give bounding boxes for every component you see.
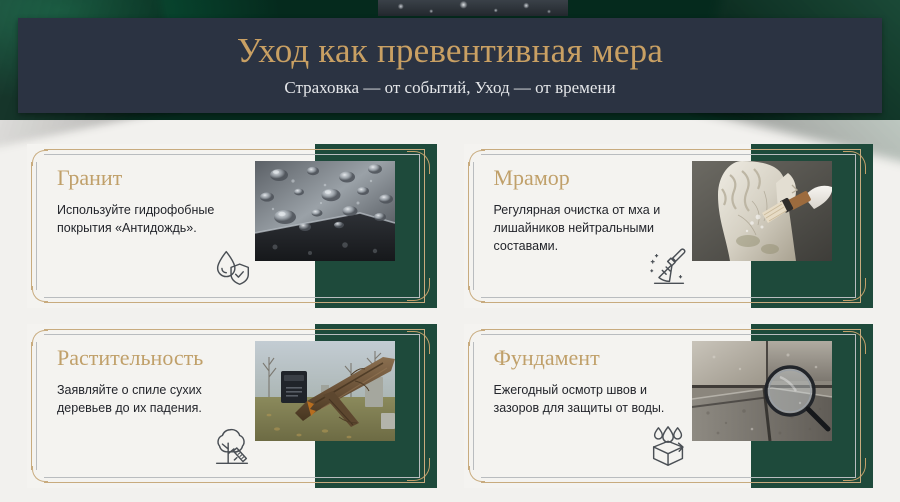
card-title: Фундамент: [494, 346, 689, 370]
page-title: Уход как превентивная мера: [237, 33, 663, 70]
card-mramor[interactable]: Мрамор Регулярная очистка от мха и лишай…: [464, 144, 874, 308]
header-banner: Уход как превентивная мера Страховка — о…: [18, 18, 882, 113]
card-title: Мрамор: [494, 166, 689, 190]
card-content: Мрамор Регулярная очистка от мха и лишай…: [494, 166, 689, 256]
marble-statue-being-brushed-photo: [692, 161, 832, 261]
card-description: Ежегодный осмотр швов и зазоров для защи…: [494, 381, 689, 417]
card-rastitelnost[interactable]: Растительность Заявляйте о спиле сухих д…: [27, 324, 437, 488]
cleaning-brush-icon: [646, 244, 692, 290]
card-content: Гранит Используйте гидрофобные покрытия …: [57, 166, 252, 237]
card-title: Гранит: [57, 166, 252, 190]
granite-texture-strip: [378, 0, 568, 16]
water-drop-shield-icon: [209, 244, 255, 290]
slide: Уход как превентивная мера Страховка — о…: [0, 0, 900, 502]
card-title: Растительность: [57, 346, 252, 370]
fallen-tree-in-cemetery-photo: [255, 341, 395, 441]
water-repellent-block-icon: [646, 424, 692, 470]
card-description: Используйте гидрофобные покрытия «Антидо…: [57, 201, 252, 237]
cards-grid: Гранит Используйте гидрофобные покрытия …: [0, 124, 900, 502]
card-content: Фундамент Ежегодный осмотр швов и зазоро…: [494, 346, 689, 417]
page-subtitle: Страховка — от событий, Уход — от времен…: [284, 78, 615, 98]
card-fundament[interactable]: Фундамент Ежегодный осмотр швов и зазоро…: [464, 324, 874, 488]
tree-with-saw-icon: [209, 424, 255, 470]
granite-slab-with-raindrops-photo: [255, 161, 395, 261]
card-content: Растительность Заявляйте о спиле сухих д…: [57, 346, 252, 417]
card-description: Заявляйте о спиле сухих деревьев до их п…: [57, 381, 252, 417]
stone-foundation-with-magnifier-photo: [692, 341, 832, 441]
card-granit[interactable]: Гранит Используйте гидрофобные покрытия …: [27, 144, 437, 308]
